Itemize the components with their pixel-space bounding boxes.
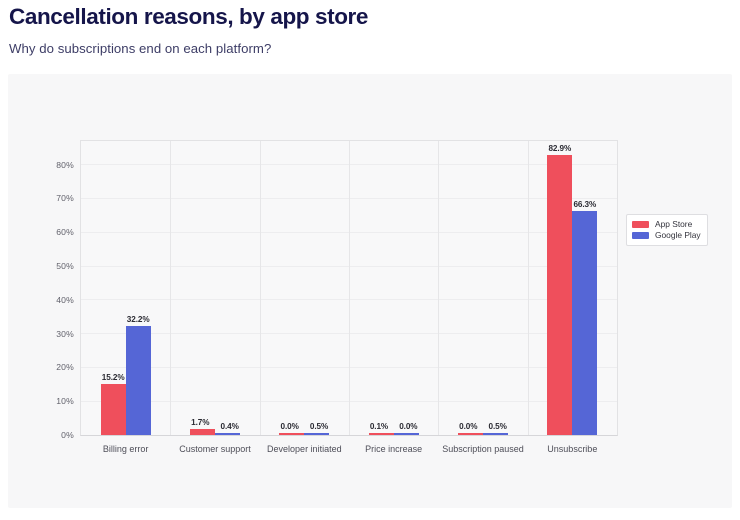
x-axis-tick-label: Developer initiated (267, 444, 342, 454)
bar-google-play[interactable]: 0.5% (483, 433, 508, 435)
page-title: Cancellation reasons, by app store (9, 2, 729, 32)
bar-column: 0.0% (279, 141, 304, 435)
bar-value-label: 0.1% (370, 422, 388, 431)
bar-google-play[interactable]: 32.2% (126, 326, 151, 435)
bar-column: 0.5% (483, 141, 508, 435)
x-axis-tick-label: Price increase (365, 444, 422, 454)
bar-column: 15.2% (101, 141, 126, 435)
bar-group: 0.0%0.5%Developer initiated (260, 141, 349, 435)
bar-group-bars: 82.9%66.3% (547, 141, 597, 435)
bar-value-label: 0.0% (280, 422, 298, 431)
x-axis-tick-label: Billing error (103, 444, 149, 454)
bar-column: 82.9% (547, 141, 572, 435)
bar-google-play[interactable]: 66.3% (572, 211, 597, 435)
y-axis-tick-label: 30% (56, 329, 74, 339)
bar-column: 0.4% (215, 141, 240, 435)
bar-value-label: 15.2% (102, 373, 125, 382)
legend-item[interactable]: App Store (632, 219, 701, 230)
bar-value-label: 1.7% (191, 418, 209, 427)
bar-column: 0.5% (304, 141, 329, 435)
legend-swatch-icon (632, 221, 649, 228)
y-axis-tick-label: 20% (56, 362, 74, 372)
bar-column: 66.3% (572, 141, 597, 435)
bar-app-store[interactable]: 15.2% (101, 384, 126, 435)
bar-group-bars: 0.0%0.5% (279, 141, 329, 435)
page-subtitle: Why do subscriptions end on each platfor… (9, 40, 729, 58)
bar-google-play[interactable]: 0.5% (304, 433, 329, 435)
plot-area: 0%10%20%30%40%50%60%70%80%15.2%32.2%Bill… (80, 140, 618, 436)
screenshot-root: Cancellation reasons, by app store Why d… (0, 0, 740, 520)
legend-item-label: App Store (655, 219, 692, 230)
bar-column: 0.1% (369, 141, 394, 435)
bar-group-bars: 0.0%0.5% (458, 141, 508, 435)
bar-google-play[interactable]: 0.0% (394, 433, 419, 435)
bar-value-label: 32.2% (127, 315, 150, 324)
bar-value-label: 66.3% (573, 200, 596, 209)
bar-group-bars: 15.2%32.2% (101, 141, 151, 435)
bar-group-bars: 0.1%0.0% (369, 141, 419, 435)
bar-group: 0.0%0.5%Subscription paused (438, 141, 527, 435)
y-axis-tick-label: 60% (56, 227, 74, 237)
bar-app-store[interactable]: 0.0% (458, 433, 483, 435)
legend-item-label: Google Play (655, 230, 701, 241)
plot-wrapper: 0%10%20%30%40%50%60%70%80%15.2%32.2%Bill… (72, 140, 618, 440)
y-axis-tick-label: 10% (56, 396, 74, 406)
bar-group: 0.1%0.0%Price increase (349, 141, 438, 435)
bar-value-label: 0.5% (489, 422, 507, 431)
bar-value-label: 0.0% (459, 422, 477, 431)
legend-item[interactable]: Google Play (632, 230, 701, 241)
bar-app-store[interactable]: 0.1% (369, 433, 394, 435)
bar-group: 82.9%66.3%Unsubscribe (528, 141, 617, 435)
bar-column: 1.7% (190, 141, 215, 435)
bar-group-bars: 1.7%0.4% (190, 141, 240, 435)
bar-value-label: 0.0% (399, 422, 417, 431)
bar-value-label: 82.9% (548, 144, 571, 153)
bar-value-label: 0.4% (221, 422, 239, 431)
bar-column: 0.0% (458, 141, 483, 435)
bar-column: 0.0% (394, 141, 419, 435)
bar-app-store[interactable]: 82.9% (547, 155, 572, 435)
chart-card: 0%10%20%30%40%50%60%70%80%15.2%32.2%Bill… (8, 74, 732, 508)
bar-app-store[interactable]: 1.7% (190, 429, 215, 435)
y-axis-tick-label: 40% (56, 295, 74, 305)
legend-swatch-icon (632, 232, 649, 239)
y-axis-tick-label: 50% (56, 261, 74, 271)
chart-legend: App StoreGoogle Play (626, 214, 708, 246)
bar-group: 1.7%0.4%Customer support (170, 141, 259, 435)
x-axis-tick-label: Unsubscribe (547, 444, 597, 454)
y-axis-tick-label: 70% (56, 193, 74, 203)
bar-value-label: 0.5% (310, 422, 328, 431)
bar-app-store[interactable]: 0.0% (279, 433, 304, 435)
bar-group: 15.2%32.2%Billing error (81, 141, 170, 435)
chart-header: Cancellation reasons, by app store Why d… (9, 2, 729, 58)
x-axis-tick-label: Customer support (179, 444, 251, 454)
x-axis-tick-label: Subscription paused (442, 444, 524, 454)
y-axis-tick-label: 0% (61, 430, 74, 440)
y-axis-tick-label: 80% (56, 160, 74, 170)
bar-column: 32.2% (126, 141, 151, 435)
bar-google-play[interactable]: 0.4% (215, 433, 240, 435)
